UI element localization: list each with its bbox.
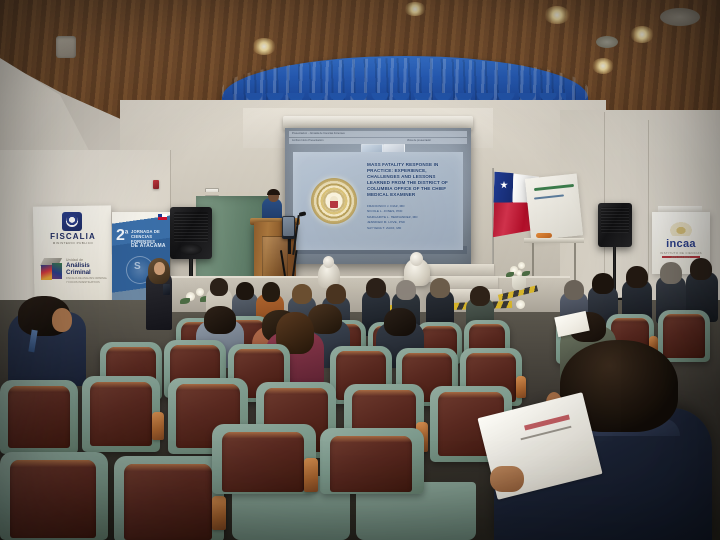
projection-screen: Presentacion - Jornada de Ciencias Foren… xyxy=(285,128,471,264)
seat-pad-highlight xyxy=(106,347,156,356)
chile-flag-canton xyxy=(158,214,162,217)
attendee-hair xyxy=(210,278,228,296)
unit-name: Análisis Criminal xyxy=(66,263,112,277)
projected-title-bar: Presentacion - Jornada de Ciencias Foren… xyxy=(289,131,467,137)
presenter-hair xyxy=(267,189,280,195)
attendee-hair xyxy=(326,284,346,304)
recessed-downlight-icon xyxy=(592,58,614,74)
table-item-orange xyxy=(536,233,552,238)
pa-speaker-grille xyxy=(601,207,629,233)
flip-chart-sheet xyxy=(525,173,583,240)
attendee-hair xyxy=(236,282,254,300)
phone-screen xyxy=(283,217,294,236)
ceiling-speaker-grille xyxy=(660,8,700,26)
attendee-hair xyxy=(626,266,648,288)
fiscalia-subtitle: MINISTERIO PUBLICO xyxy=(44,241,102,245)
slide-authors: FRANCISCO J. DIAZ, MD NICOLE L. JONES, P… xyxy=(367,204,459,231)
foreground-attendee-hand xyxy=(490,466,524,492)
standing-attendee-head xyxy=(154,262,165,275)
auditorium-seat[interactable] xyxy=(82,376,160,452)
flower-vase xyxy=(512,276,526,290)
attendee-hair xyxy=(470,286,490,306)
seat-pad-highlight xyxy=(90,382,152,393)
cube-face-left xyxy=(41,265,52,280)
recessed-downlight-icon xyxy=(630,26,654,43)
auditorium-seat[interactable] xyxy=(0,452,108,540)
presentation-slide: MASS FATALITY RESPONSE IN PRACTICE: EXPE… xyxy=(293,152,463,250)
seat-pad-highlight xyxy=(421,326,457,333)
incaa-wordmark: incaa xyxy=(652,238,710,250)
unit-subtitle: FISCALIA DE ANALISIS CRIMINAL Y FOCOS IN… xyxy=(66,277,110,285)
auditorium-seat[interactable] xyxy=(320,428,424,494)
seat-pad-highlight xyxy=(611,318,649,325)
auditorium-seat[interactable] xyxy=(114,456,224,540)
attendee-hair xyxy=(430,278,450,298)
seat-pad-highlight xyxy=(176,384,240,395)
auditorium-seat[interactable] xyxy=(0,380,78,454)
seat-pad-highlight xyxy=(8,386,70,397)
side-table-leg xyxy=(574,243,576,283)
analysis-cube-icon xyxy=(40,258,64,282)
attendee-head xyxy=(52,308,72,332)
stage-step xyxy=(420,264,494,276)
seat-pad-highlight xyxy=(234,349,284,358)
attendee-hair xyxy=(564,280,584,300)
seat-pad-highlight xyxy=(663,314,705,321)
auditorium-seat[interactable] xyxy=(658,310,710,362)
attendee-hair xyxy=(292,284,312,304)
flower-bloom xyxy=(518,262,525,269)
seat-pad-highlight xyxy=(170,345,220,354)
seat-armrest xyxy=(516,376,526,398)
pa-speaker-grille xyxy=(174,212,208,242)
office-seal-figure xyxy=(330,196,338,208)
fiscalia-wordmark: FISCALIA xyxy=(44,232,102,241)
seat-pad-highlight xyxy=(264,388,328,399)
mobile-phone-icon xyxy=(163,284,170,295)
jornada-watermark: S xyxy=(134,261,141,272)
chile-flag-canton xyxy=(493,172,513,204)
jornada-number: 2a xyxy=(116,228,128,244)
seat-pad-highlight xyxy=(438,392,504,403)
seat-pad-highlight xyxy=(352,390,416,401)
seat-pad-highlight xyxy=(10,460,96,473)
attendee-hair xyxy=(204,306,236,334)
auditorium-seat[interactable] xyxy=(212,424,316,494)
seat-pad-highlight xyxy=(402,353,452,362)
pa-speaker-woofer xyxy=(180,244,202,255)
attendee-hair xyxy=(384,308,416,336)
marble-bust-head xyxy=(410,252,423,266)
recessed-downlight-icon xyxy=(404,2,426,16)
seat-pad-highlight xyxy=(466,353,516,362)
auditorium-photo: Presentacion - Jornada de Ciencias Foren… xyxy=(0,0,720,540)
projected-title-text: Presentacion - Jornada de Ciencias Foren… xyxy=(289,131,467,135)
attendee-hair xyxy=(660,262,682,284)
incaa-emblem-icon xyxy=(670,222,692,236)
attendee-hair xyxy=(366,278,386,298)
jornada-ordinal: a xyxy=(125,230,128,236)
seat-pad-highlight xyxy=(124,464,212,477)
attendee-hair xyxy=(592,273,614,294)
attendee-hair xyxy=(396,280,416,300)
recessed-downlight-icon xyxy=(544,6,570,24)
seat-armrest xyxy=(304,458,318,492)
fiscalia-emblem-inner xyxy=(66,215,78,227)
projected-ribbon-text: Archivo Inicio Presentacion xyxy=(289,138,467,142)
jornada-line2: DE ATACAMA xyxy=(131,243,169,249)
flower-bloom xyxy=(196,288,204,296)
jornada-number-value: 2 xyxy=(116,227,125,244)
seat-pad-highlight xyxy=(222,432,304,444)
wall-vent-icon xyxy=(56,36,76,58)
cube-face-right xyxy=(52,263,62,279)
projected-status-text: Vista de presentador xyxy=(407,139,431,142)
slide-title: MASS FATALITY RESPONSE IN PRACTICE: EXPE… xyxy=(367,162,459,198)
marble-bust-head xyxy=(323,256,334,268)
attendee-hair xyxy=(262,282,280,302)
attendee-hair xyxy=(690,258,712,280)
flower-bloom xyxy=(516,300,525,309)
seat-pad-highlight xyxy=(330,436,412,448)
seat-pad-highlight xyxy=(469,324,505,331)
seat-armrest xyxy=(152,412,164,440)
seat-armrest xyxy=(212,496,226,530)
ceiling-speaker-grille xyxy=(596,36,618,48)
seat-pad-highlight xyxy=(336,351,386,360)
recessed-downlight-icon xyxy=(252,38,276,55)
fire-alarm-icon xyxy=(153,180,159,189)
